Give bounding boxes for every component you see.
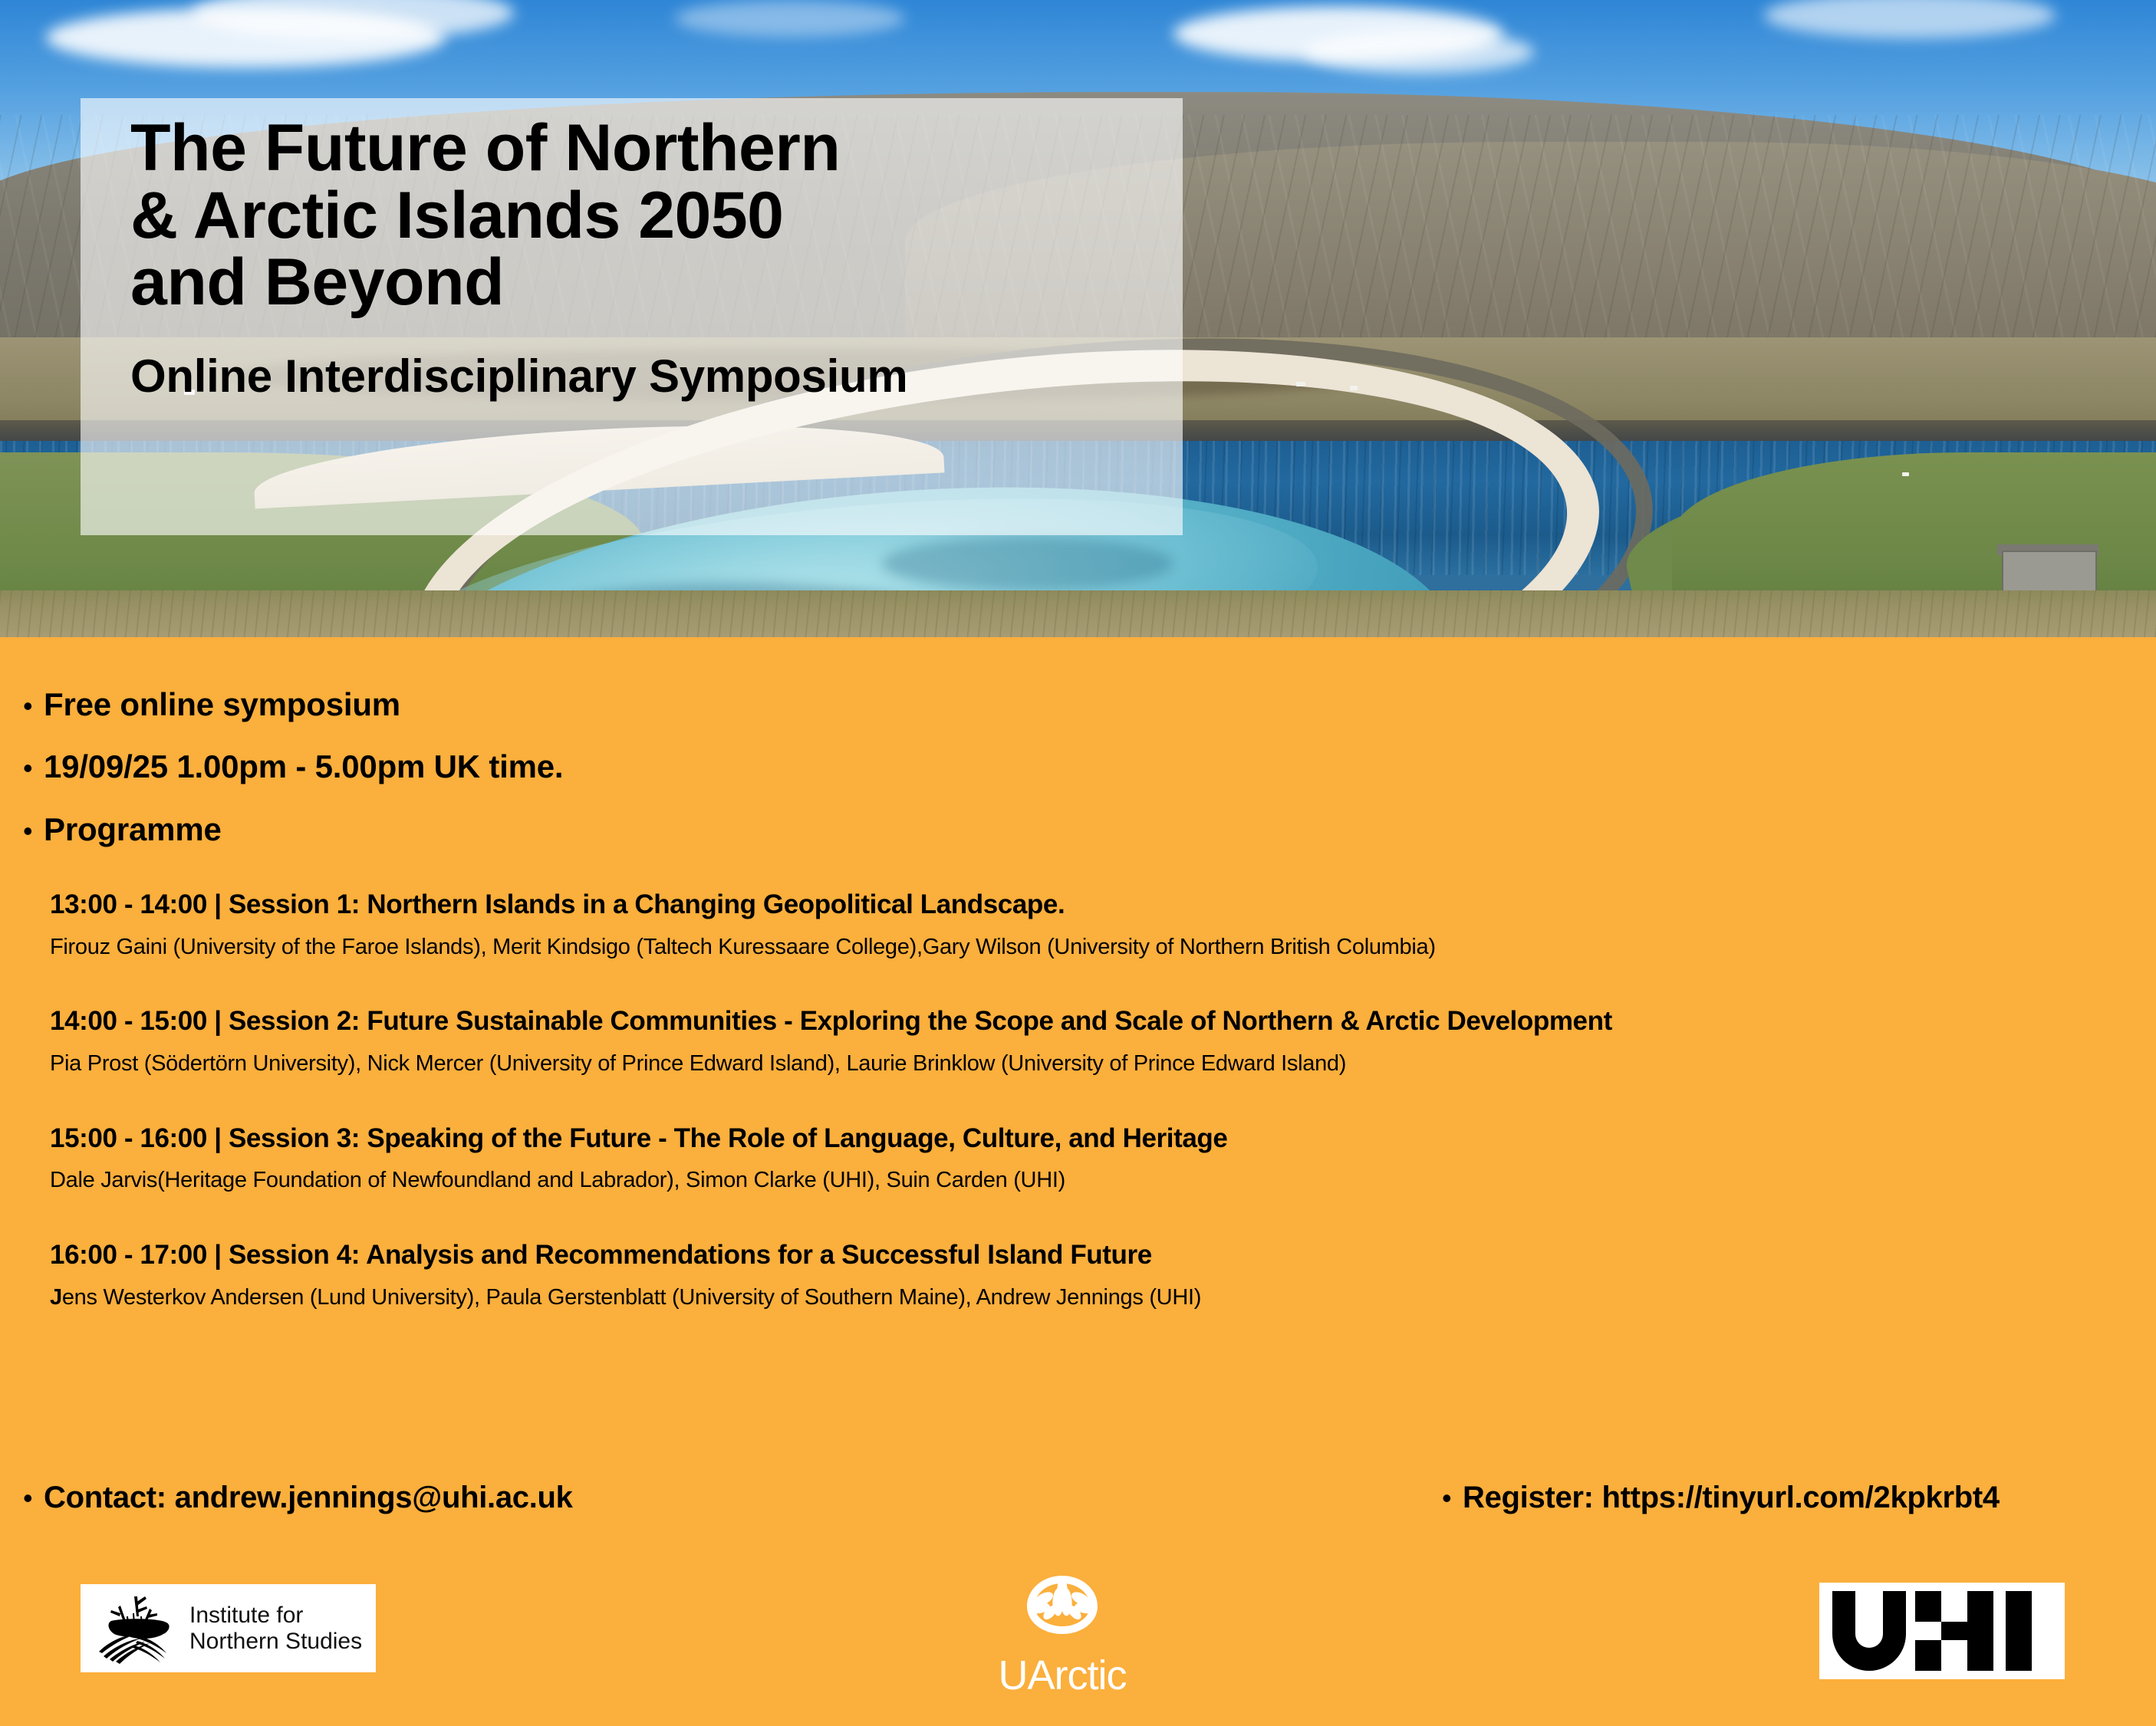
croft-building [2002,551,2097,597]
bullet-icon: • [23,755,44,782]
title-line-1: The Future of Northern [130,115,1220,182]
session-title: 14:00 - 15:00 | Session 2: Future Sustai… [50,1007,2121,1037]
institute-line-1: Institute for [189,1603,362,1629]
uhi-logo [1819,1583,2065,1679]
cloud [675,0,905,37]
cloud [1304,31,1534,74]
info-bullet-list: • Free online symposium • 19/09/25 1.00p… [23,687,1557,874]
contact-email[interactable]: Contact: andrew.jennings@uhi.ac.uk [44,1481,573,1515]
distant-marker [1902,472,1909,476]
uarctic-wordmark: UArctic [963,1655,1162,1696]
symposium-poster: The Future of Northern & Arctic Islands … [0,0,2156,1726]
institute-line-2: Northern Studies [189,1629,362,1655]
contact-row[interactable]: • Contact: andrew.jennings@uhi.ac.uk [23,1481,573,1515]
session-entry-1: 13:00 - 14:00 | Session 1: Northern Isla… [50,890,2121,959]
register-row[interactable]: • Register: https://tinyurl.com/2kpkrbt4 [1442,1481,2000,1515]
session-title: 15:00 - 16:00 | Session 3: Speaking of t… [50,1124,2121,1154]
session-entry-4: 16:00 - 17:00 | Session 4: Analysis and … [50,1241,2121,1310]
uhi-block-icon [1831,1590,2053,1672]
bullet-icon: • [23,692,44,720]
institute-for-northern-studies-logo: Institute for Northern Studies [81,1584,376,1672]
bullet-label-datetime: 19/09/25 1.00pm - 5.00pm UK time. [44,749,563,784]
lagoon-seabed-patch [882,537,1173,590]
antler-tree-icon [93,1593,179,1664]
uarctic-flower-icon [1016,1573,1108,1646]
bullet-icon: • [23,1484,44,1512]
session-speakers-lead: J [50,1285,62,1310]
distant-house [1296,382,1305,386]
institute-wordmark: Institute for Northern Studies [189,1603,362,1654]
title-block: The Future of Northern & Arctic Islands … [130,115,1220,400]
bullet-icon: • [23,817,44,845]
title-line-3: and Beyond [130,249,1220,317]
session-speakers: Dale Jarvis(Heritage Foundation of Newfo… [50,1169,2121,1193]
session-title: 16:00 - 17:00 | Session 4: Analysis and … [50,1241,2121,1271]
page-subtitle: Online Interdisciplinary Symposium [130,317,1220,400]
session-title: 13:00 - 14:00 | Session 1: Northern Isla… [50,890,2121,920]
logo-row: Institute for Northern Studies [0,1576,2156,1722]
foreground-grass [0,590,2156,637]
session-entry-3: 15:00 - 16:00 | Session 3: Speaking of t… [50,1124,2121,1193]
list-item: • Programme [23,812,1557,847]
session-speakers: Jens Westerkov Andersen (Lund University… [50,1286,2121,1310]
uarctic-logo: UArctic [963,1573,1162,1722]
programme-session-list: 13:00 - 14:00 | Session 1: Northern Isla… [50,890,2121,1310]
hero-photo: The Future of Northern & Arctic Islands … [0,0,2156,637]
bullet-label-programme: Programme [44,812,222,847]
content-area: • Free online symposium • 19/09/25 1.00p… [0,637,2156,1726]
bullet-icon: • [1442,1484,1463,1512]
list-item: • Free online symposium [23,687,1557,722]
register-link[interactable]: Register: https://tinyurl.com/2kpkrbt4 [1463,1481,2000,1515]
session-speakers: Firouz Gaini (University of the Faroe Is… [50,935,2121,960]
bullet-label-free-symposium: Free online symposium [44,687,400,722]
list-item: • 19/09/25 1.00pm - 5.00pm UK time. [23,749,1557,784]
session-speakers: Pia Prost (Södertörn University), Nick M… [50,1052,2121,1077]
session-entry-2: 14:00 - 15:00 | Session 2: Future Sustai… [50,1007,2121,1076]
title-line-2: & Arctic Islands 2050 [130,182,1220,250]
distant-house [1350,386,1358,390]
page-title: The Future of Northern & Arctic Islands … [130,115,1220,317]
session-speakers-rest: ens Westerkov Andersen (Lund University)… [62,1285,1201,1310]
footer-links: • Contact: andrew.jennings@uhi.ac.uk • R… [0,1481,2156,1542]
